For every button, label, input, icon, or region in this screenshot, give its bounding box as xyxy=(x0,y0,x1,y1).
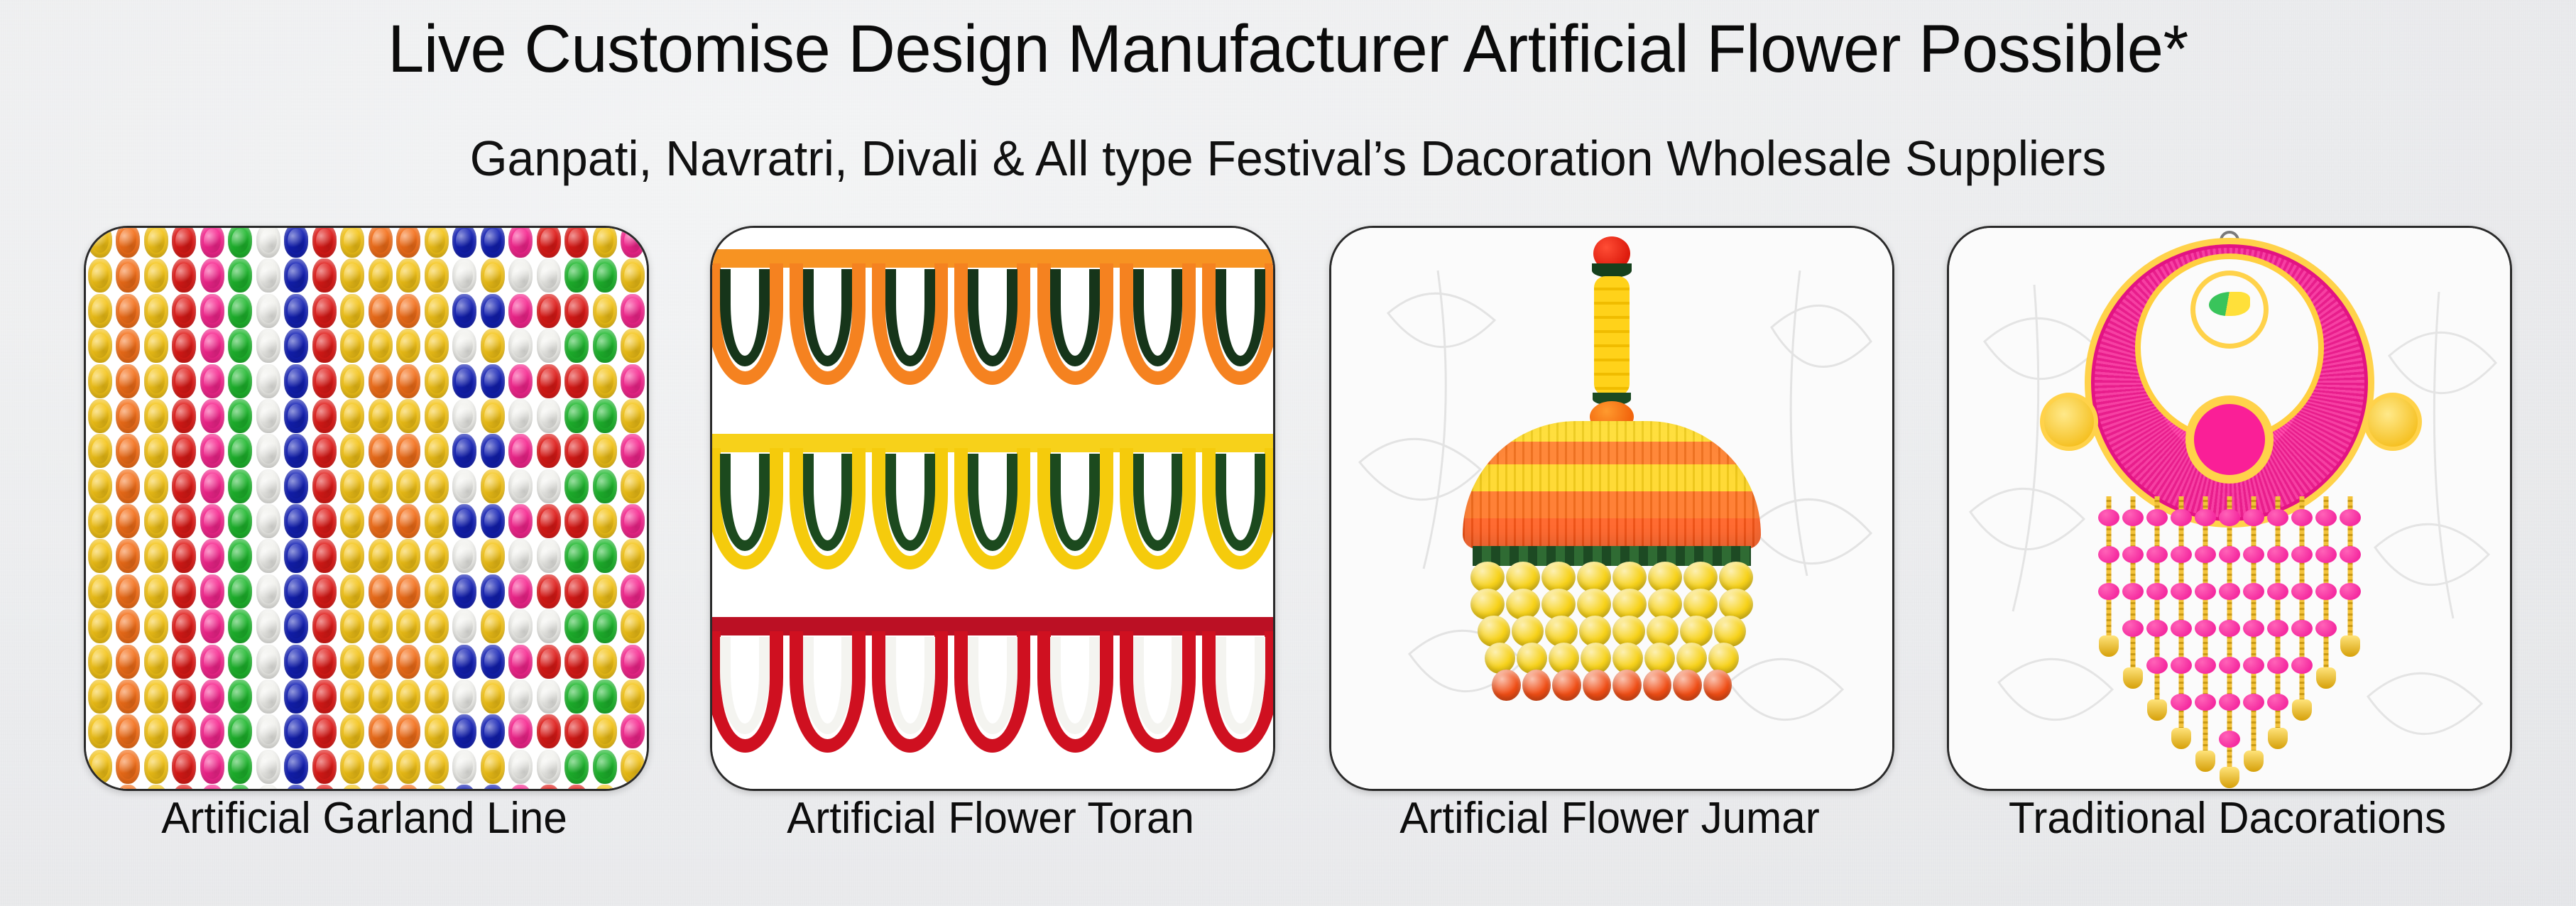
poster-canvas: Live Customise Design Manufacturer Artif… xyxy=(0,0,2576,906)
jumar-marigold xyxy=(1512,616,1544,647)
pompom-strand xyxy=(2121,496,2145,780)
garland-bead xyxy=(621,539,645,573)
garland-bead xyxy=(144,714,168,748)
pom-pom xyxy=(2146,583,2168,600)
garland-bead xyxy=(369,714,393,748)
garland-bead xyxy=(172,434,196,468)
garland-bead xyxy=(537,750,561,784)
garland-bead xyxy=(537,574,561,608)
garland-bead xyxy=(172,294,196,328)
garland-bead xyxy=(172,329,196,363)
pom-pom xyxy=(2098,583,2119,600)
garland-bead xyxy=(396,399,420,433)
pom-pom xyxy=(2122,620,2144,637)
garland-bead xyxy=(593,714,617,748)
garland-bead xyxy=(312,785,337,791)
garland-bead xyxy=(144,258,168,293)
garland-bead xyxy=(452,609,476,643)
garland-bead xyxy=(369,469,393,503)
garland-bead xyxy=(593,469,617,503)
garland-bead xyxy=(369,539,393,573)
caption-artificial-flower-toran: Artificial Flower Toran xyxy=(719,797,1262,841)
toran-loop xyxy=(869,631,951,758)
garland-column xyxy=(366,228,395,789)
product-card-row xyxy=(0,226,2576,787)
jumar-marigold xyxy=(1583,670,1612,701)
garland-bead xyxy=(564,714,589,748)
center-mirror-ring xyxy=(2185,395,2274,484)
garland-bead xyxy=(144,785,168,791)
garland-bead xyxy=(564,504,589,538)
garland-bead xyxy=(312,226,337,258)
bell-icon xyxy=(2147,699,2167,721)
garland-bead xyxy=(564,364,589,398)
garland-bead xyxy=(228,226,252,258)
garland-bead xyxy=(144,750,168,784)
garland-bead xyxy=(200,226,224,258)
pom-pom xyxy=(2171,509,2192,526)
garland-bead xyxy=(537,469,561,503)
garland-bead xyxy=(369,574,393,608)
product-card-traditional-dacorations[interactable] xyxy=(1947,226,2512,791)
garland-bead xyxy=(621,226,645,258)
garland-bead xyxy=(228,785,252,791)
pom-pom xyxy=(2267,583,2288,600)
garland-bead xyxy=(228,645,252,679)
garland-bead xyxy=(144,294,168,328)
garland-bead xyxy=(172,364,196,398)
garland-bead xyxy=(537,364,561,398)
toran-loop xyxy=(869,263,951,390)
pom-pom xyxy=(2267,546,2288,563)
garland-bead xyxy=(508,645,533,679)
garland-bead xyxy=(537,329,561,363)
garland-bead xyxy=(256,469,280,503)
garland-bead xyxy=(452,258,476,293)
garland-column xyxy=(86,228,114,789)
pompom-strand xyxy=(2338,496,2362,780)
bell-icon xyxy=(2268,728,2288,749)
garland-bead xyxy=(340,469,364,503)
garland-column xyxy=(563,228,591,789)
garland-bead xyxy=(593,226,617,258)
garland-bead xyxy=(256,785,280,791)
garland-bead xyxy=(452,750,476,784)
garland-bead xyxy=(452,329,476,363)
garland-bead xyxy=(172,504,196,538)
garland-bead xyxy=(116,469,140,503)
garland-bead xyxy=(593,574,617,608)
garland-bead xyxy=(452,504,476,538)
garland-bead xyxy=(593,258,617,293)
garland-bead xyxy=(340,434,364,468)
garland-bead xyxy=(144,504,168,538)
toran-loop xyxy=(1034,263,1116,390)
toran-loop xyxy=(951,448,1034,574)
garland-bead xyxy=(537,504,561,538)
garland-bead xyxy=(312,329,337,363)
garland-bead xyxy=(396,329,420,363)
garland-bead xyxy=(564,226,589,258)
bell-icon xyxy=(2316,667,2336,689)
garland-bead xyxy=(481,679,505,714)
garland-bead xyxy=(88,750,112,784)
garland-bead xyxy=(452,226,476,258)
garland-bead xyxy=(564,399,589,433)
garland-bead xyxy=(425,785,449,791)
garland-column xyxy=(283,228,311,789)
jumar-marigold xyxy=(1708,643,1739,674)
garland-bead xyxy=(340,679,364,714)
toran-loops xyxy=(710,631,1275,758)
garland-bead xyxy=(537,399,561,433)
garland-bead xyxy=(425,364,449,398)
garland-bead xyxy=(256,645,280,679)
garland-bead xyxy=(452,679,476,714)
garland-bead xyxy=(200,750,224,784)
garland-bead xyxy=(88,329,112,363)
garland-bead xyxy=(508,258,533,293)
pom-pom xyxy=(2243,509,2264,526)
jumar-image xyxy=(1331,228,1892,789)
toran-row-yellow-toran xyxy=(710,434,1275,574)
garland-column xyxy=(254,228,283,789)
page-subtitle: Ganpati, Navratri, Divali & All type Fes… xyxy=(38,133,2537,183)
garland-bead xyxy=(284,714,308,748)
bell-icon xyxy=(2292,699,2312,721)
garland-bead xyxy=(481,645,505,679)
garland-bead xyxy=(396,750,420,784)
pom-pom xyxy=(2195,620,2216,637)
garland-bead xyxy=(284,364,308,398)
toran-loop xyxy=(951,631,1034,758)
garland-bead xyxy=(200,539,224,573)
pompom-strand xyxy=(2314,496,2338,780)
garland-bead xyxy=(116,539,140,573)
garland-column xyxy=(395,228,423,789)
pom-pom xyxy=(2340,546,2361,563)
garland-bead xyxy=(593,399,617,433)
garland-bead xyxy=(144,434,168,468)
garland-bead xyxy=(172,750,196,784)
garland-bead xyxy=(369,645,393,679)
garland-bead xyxy=(144,469,168,503)
garland-bead xyxy=(284,785,308,791)
garland-bead xyxy=(256,679,280,714)
garland-bead xyxy=(88,364,112,398)
pom-pom xyxy=(2219,694,2240,711)
garland-bead xyxy=(172,399,196,433)
pom-pom xyxy=(2171,620,2192,637)
garland-bead xyxy=(508,226,533,258)
garland-bead xyxy=(200,469,224,503)
pom-pom xyxy=(2098,509,2119,526)
garland-bead xyxy=(425,329,449,363)
garland-bead xyxy=(564,645,589,679)
garland-bead xyxy=(340,785,364,791)
garland-bead xyxy=(593,434,617,468)
garland-bead xyxy=(593,504,617,538)
pom-pom xyxy=(2146,620,2168,637)
toran-loop xyxy=(1199,448,1275,574)
pom-pom xyxy=(2219,509,2240,526)
garland-bead xyxy=(172,539,196,573)
garland-bead xyxy=(425,294,449,328)
garland-bead xyxy=(621,364,645,398)
pom-pom xyxy=(2171,583,2192,600)
garland-bead xyxy=(312,539,337,573)
garland-bead xyxy=(144,609,168,643)
garland-bead xyxy=(621,609,645,643)
pom-pom xyxy=(2315,546,2337,563)
pompom-strand xyxy=(2097,496,2121,780)
garland-bead xyxy=(284,226,308,258)
garland-bead xyxy=(593,609,617,643)
garland-column xyxy=(591,228,619,789)
garland-bead xyxy=(621,294,645,328)
garland-bead xyxy=(481,294,505,328)
garland-bead xyxy=(88,294,112,328)
garland-bead xyxy=(312,294,337,328)
garland-bead xyxy=(369,364,393,398)
garland-bead xyxy=(200,679,224,714)
garland-column xyxy=(339,228,367,789)
garland-bead xyxy=(564,785,589,791)
garland-bead xyxy=(284,258,308,293)
garland-bead xyxy=(256,574,280,608)
garland-bead xyxy=(312,504,337,538)
garland-bead xyxy=(396,785,420,791)
garland-bead xyxy=(116,645,140,679)
garland-bead xyxy=(621,645,645,679)
garland-bead xyxy=(200,714,224,748)
pompom-strand xyxy=(2266,496,2290,780)
garland-bead xyxy=(88,258,112,293)
pom-pom xyxy=(2195,657,2216,674)
garland-bead xyxy=(425,645,449,679)
toran-loop xyxy=(1116,263,1199,390)
pom-pom xyxy=(2122,509,2144,526)
garland-bead xyxy=(621,434,645,468)
garland-bead xyxy=(256,714,280,748)
garland-bead xyxy=(116,750,140,784)
pom-pom xyxy=(2315,583,2337,600)
garland-bead xyxy=(256,399,280,433)
garland-bead xyxy=(284,609,308,643)
toran-loop xyxy=(710,263,786,390)
pompom-strand xyxy=(2193,496,2217,780)
garland-bead xyxy=(369,504,393,538)
garland-bead xyxy=(312,434,337,468)
jumar-marigold-row xyxy=(1463,670,1761,701)
bell-icon xyxy=(2340,635,2360,657)
garland-bead xyxy=(284,329,308,363)
garland-bead xyxy=(172,258,196,293)
pom-pom xyxy=(2291,657,2313,674)
garland-column xyxy=(198,228,227,789)
garland-bead xyxy=(200,609,224,643)
garland-bead xyxy=(144,574,168,608)
garland-bead xyxy=(284,469,308,503)
garland-bead xyxy=(228,434,252,468)
garland-bead xyxy=(452,539,476,573)
garland-bead xyxy=(256,539,280,573)
garland-bead xyxy=(425,679,449,714)
pom-pom xyxy=(2243,620,2264,637)
garland-bead xyxy=(284,679,308,714)
garland-bead xyxy=(621,574,645,608)
product-card-artificial-flower-jumar[interactable] xyxy=(1329,226,1894,791)
garland-bead xyxy=(200,785,224,791)
garland-bead xyxy=(481,539,505,573)
pompom-strand xyxy=(2145,496,2169,780)
garland-bead xyxy=(369,399,393,433)
garland-bead xyxy=(256,258,280,293)
garland-bead xyxy=(425,609,449,643)
garland-bead xyxy=(396,294,420,328)
pom-pom xyxy=(2219,731,2240,748)
toran-loop xyxy=(1199,631,1275,758)
toran-loop xyxy=(710,631,786,758)
garland-bead xyxy=(564,539,589,573)
garland-bead xyxy=(481,329,505,363)
garland-bead xyxy=(481,785,505,791)
garland-bead xyxy=(396,434,420,468)
toran-loop xyxy=(1116,631,1199,758)
garland-bead xyxy=(284,645,308,679)
jumar-dome xyxy=(1463,421,1761,549)
garland-column xyxy=(142,228,170,789)
garland-bead xyxy=(508,504,533,538)
garland-bead xyxy=(144,645,168,679)
pom-pom xyxy=(2315,509,2337,526)
garland-bead xyxy=(452,469,476,503)
garland-bead xyxy=(537,294,561,328)
garland-column xyxy=(451,228,479,789)
garland-bead xyxy=(116,504,140,538)
jumar-top-cap xyxy=(1592,263,1632,278)
garland-bead xyxy=(481,469,505,503)
pom-pom xyxy=(2146,509,2168,526)
pom-pom xyxy=(2122,546,2144,563)
garland-bead xyxy=(256,226,280,258)
pom-pom xyxy=(2243,583,2264,600)
garland-bead xyxy=(396,364,420,398)
garland-bead xyxy=(537,226,561,258)
garland-bead xyxy=(508,574,533,608)
garland-bead xyxy=(88,574,112,608)
jumar-marigold xyxy=(1643,670,1672,701)
garland-bead xyxy=(172,574,196,608)
toran-loop xyxy=(869,448,951,574)
pom-pom xyxy=(2291,509,2313,526)
garland-bead xyxy=(88,609,112,643)
garland-bead xyxy=(537,539,561,573)
garland-bead xyxy=(593,329,617,363)
garland-bead xyxy=(481,714,505,748)
toran-row-orange-toran xyxy=(710,249,1275,390)
garland-bead xyxy=(621,399,645,433)
garland-bead xyxy=(593,679,617,714)
garland-bead xyxy=(116,258,140,293)
garland-bead xyxy=(284,399,308,433)
traditional-hanging-image xyxy=(1949,228,2510,789)
garland-bead xyxy=(312,645,337,679)
garland-bead xyxy=(396,469,420,503)
garland-bead xyxy=(537,645,561,679)
jumar-marigold xyxy=(1478,616,1510,647)
garland-bead xyxy=(537,785,561,791)
jumar-marigold xyxy=(1485,643,1515,674)
pom-pom xyxy=(2146,546,2168,563)
garland-bead xyxy=(228,364,252,398)
pom-pom xyxy=(2243,694,2264,711)
garland-bead xyxy=(256,504,280,538)
pom-pom xyxy=(2267,694,2288,711)
bell-icon xyxy=(2244,751,2264,772)
garland-bead xyxy=(88,785,112,791)
garland-bead xyxy=(508,329,533,363)
garland-bead xyxy=(200,294,224,328)
pom-pom xyxy=(2171,694,2192,711)
jumar-stem xyxy=(1594,276,1630,395)
garland-bead xyxy=(200,645,224,679)
pom-pom xyxy=(2340,509,2361,526)
garland-bead xyxy=(593,539,617,573)
garland-bead xyxy=(312,750,337,784)
product-card-artificial-flower-toran[interactable] xyxy=(710,226,1275,791)
pom-pom xyxy=(2267,509,2288,526)
garland-bead xyxy=(369,294,393,328)
pom-pom xyxy=(2340,583,2361,600)
bell-icon xyxy=(2099,635,2119,657)
garland-bead xyxy=(481,609,505,643)
garland-bead xyxy=(425,258,449,293)
garland-bead xyxy=(312,574,337,608)
garland-bead xyxy=(452,645,476,679)
garland-bead xyxy=(340,609,364,643)
garland-bead xyxy=(256,329,280,363)
garland-bead xyxy=(200,364,224,398)
garland-bead xyxy=(256,434,280,468)
toran-row-red-toran xyxy=(710,617,1275,758)
garland-bead xyxy=(481,364,505,398)
pom-pom xyxy=(2267,657,2288,674)
garland-bead xyxy=(228,258,252,293)
garland-bead xyxy=(425,469,449,503)
garland-bead xyxy=(172,226,196,258)
garland-bead xyxy=(340,714,364,748)
product-card-artificial-garland-line[interactable] xyxy=(84,226,649,791)
garland-column xyxy=(310,228,339,789)
garland-bead xyxy=(312,399,337,433)
garland-bead xyxy=(508,609,533,643)
jumar-marigold xyxy=(1612,670,1642,701)
garland-bead xyxy=(284,504,308,538)
garland-bead xyxy=(425,539,449,573)
toran-loop xyxy=(1034,631,1116,758)
garland-bead xyxy=(172,609,196,643)
pom-pom xyxy=(2291,546,2313,563)
garland-bead xyxy=(621,469,645,503)
garland-bead xyxy=(425,504,449,538)
garland-bead xyxy=(172,714,196,748)
garland-bead xyxy=(228,329,252,363)
garland-bead xyxy=(228,469,252,503)
garland-bead xyxy=(396,504,420,538)
pompom-strands xyxy=(2063,496,2396,780)
garland-bead xyxy=(284,294,308,328)
